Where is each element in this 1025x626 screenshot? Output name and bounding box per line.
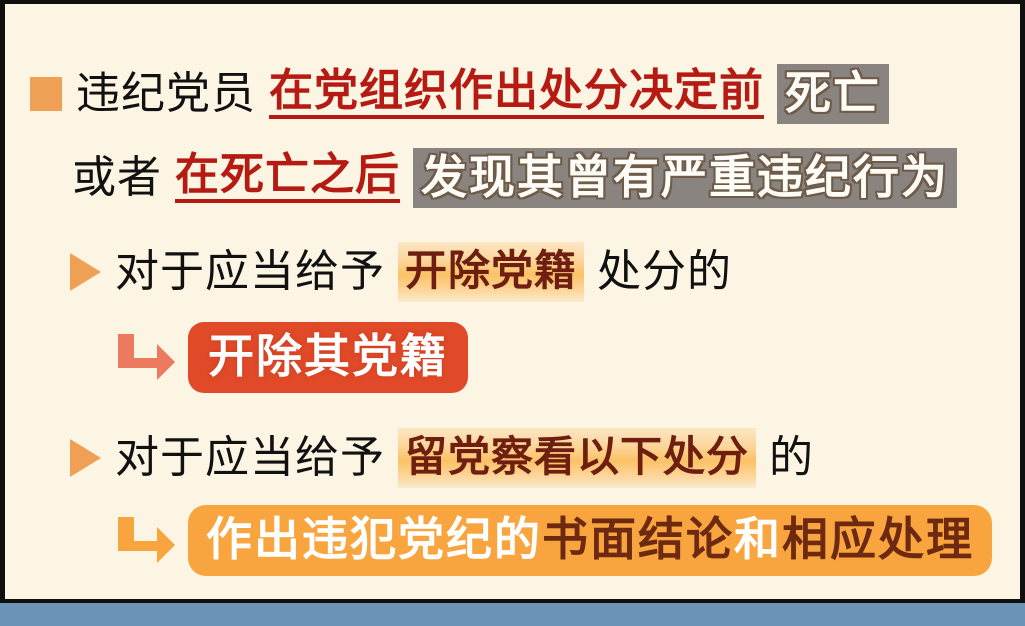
line6-orange-pill: 作出违犯党纪的书面结论和相应处理 [188, 505, 992, 576]
slide-root: 违纪党员 在党组织作出处分决定前 死亡 或者 在死亡之后 发现其曾有严重违纪行为… [0, 0, 1025, 626]
line5-peach-highlight: 留党察看以下处分 [398, 428, 756, 488]
line6-part-b: 书面结论 [542, 512, 734, 566]
elbow-arrow-icon [112, 330, 178, 386]
line1-text-emphasis: 在党组织作出处分决定前 [269, 69, 764, 119]
line6-part-c: 和 [734, 512, 782, 566]
line2-gray-chip: 发现其曾有严重违纪行为 [413, 148, 957, 208]
bullet-line-3: 对于应当给予 开除党籍 处分的 [70, 242, 732, 302]
slide-content: 违纪党员 在党组织作出处分决定前 死亡 或者 在死亡之后 发现其曾有严重违纪行为… [0, 0, 1015, 595]
bullet-line-5: 对于应当给予 留党察看以下处分 的 [70, 428, 814, 488]
triangle-bullet-icon [70, 253, 101, 291]
bullet-line-1: 违纪党员 在党组织作出处分决定前 死亡 [30, 64, 889, 124]
line2-text-emphasis: 在死亡之后 [175, 153, 400, 203]
line4-red-pill: 开除其党籍 [188, 322, 468, 393]
line5-text-plain-a: 对于应当给予 [115, 436, 385, 480]
bullet-line-4: 开除其党籍 [112, 322, 468, 393]
footer-band [0, 603, 1025, 626]
line3-text-plain-b: 处分的 [597, 250, 732, 294]
line1-gray-chip: 死亡 [777, 64, 889, 124]
bullet-line-2: 或者 在死亡之后 发现其曾有严重违纪行为 [72, 148, 957, 208]
triangle-bullet-icon [70, 439, 101, 477]
square-bullet-icon [30, 77, 62, 111]
line6-part-a: 作出违犯党纪的 [206, 512, 542, 566]
line3-peach-highlight: 开除党籍 [398, 242, 584, 302]
line2-text-plain-a: 或者 [72, 156, 162, 200]
bullet-line-6: 作出违犯党纪的书面结论和相应处理 [112, 505, 992, 576]
line5-text-plain-b: 的 [769, 436, 814, 480]
elbow-arrow-icon [112, 513, 178, 569]
line6-part-d: 相应处理 [782, 512, 974, 566]
line1-text-plain-a: 违纪党员 [76, 72, 256, 116]
line3-text-plain-a: 对于应当给予 [115, 250, 385, 294]
